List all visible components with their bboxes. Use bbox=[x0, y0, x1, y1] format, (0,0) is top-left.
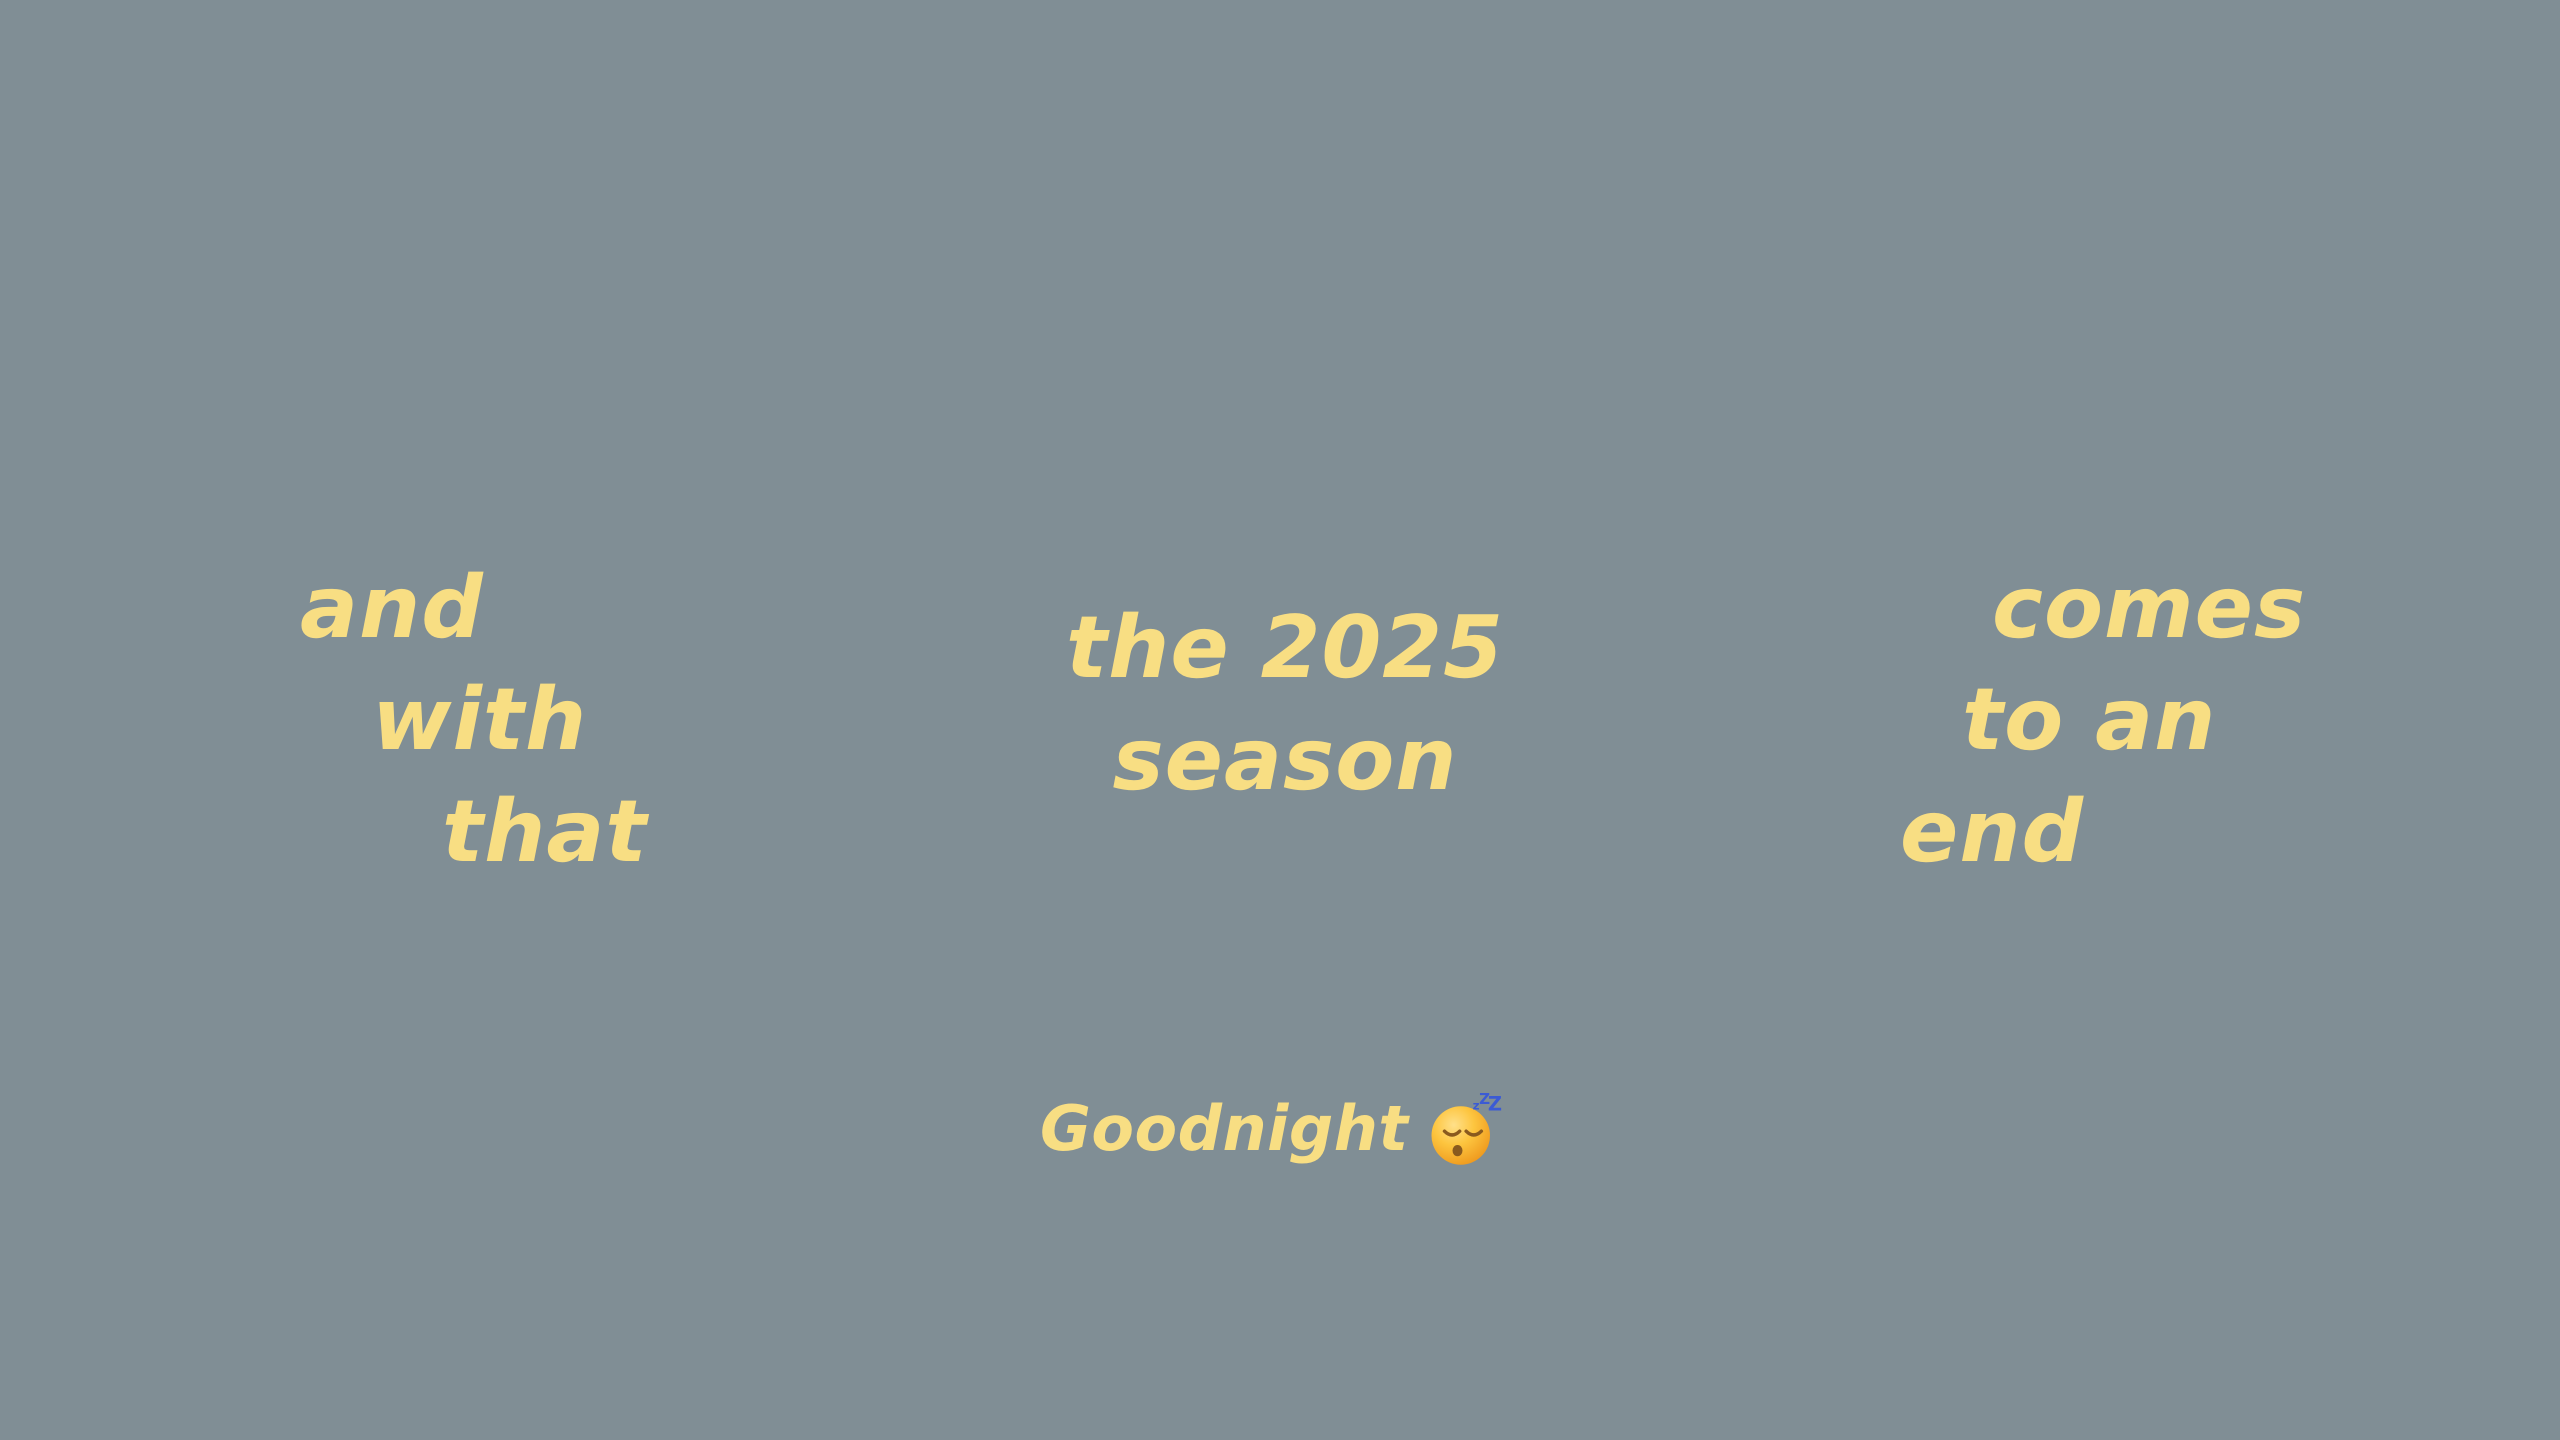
signoff-text: Goodnight bbox=[1040, 1090, 1409, 1168]
caption-line: the 2025 bbox=[1040, 592, 1530, 704]
sleeping-face-emoji: z Z Z bbox=[1425, 1090, 1503, 1168]
caption-block-right: comes to an end bbox=[1900, 552, 2306, 888]
caption-block-center: the 2025 season bbox=[1040, 592, 1530, 816]
caption-line: that bbox=[442, 776, 647, 888]
caption-line: end bbox=[1900, 776, 2306, 888]
wallpaper-canvas: and with that the 2025 season comes to a… bbox=[0, 0, 2560, 1440]
caption-line: comes bbox=[1992, 552, 2306, 664]
caption-line: with bbox=[372, 664, 647, 776]
caption-line: to an bbox=[1962, 664, 2306, 776]
caption-block-left: and with that bbox=[300, 552, 647, 888]
signoff-line: Goodnight z Z Z bbox=[1040, 1090, 1520, 1168]
svg-text:Z: Z bbox=[1487, 1093, 1501, 1116]
caption-line: and bbox=[300, 552, 647, 664]
caption-line: season bbox=[1040, 704, 1530, 816]
